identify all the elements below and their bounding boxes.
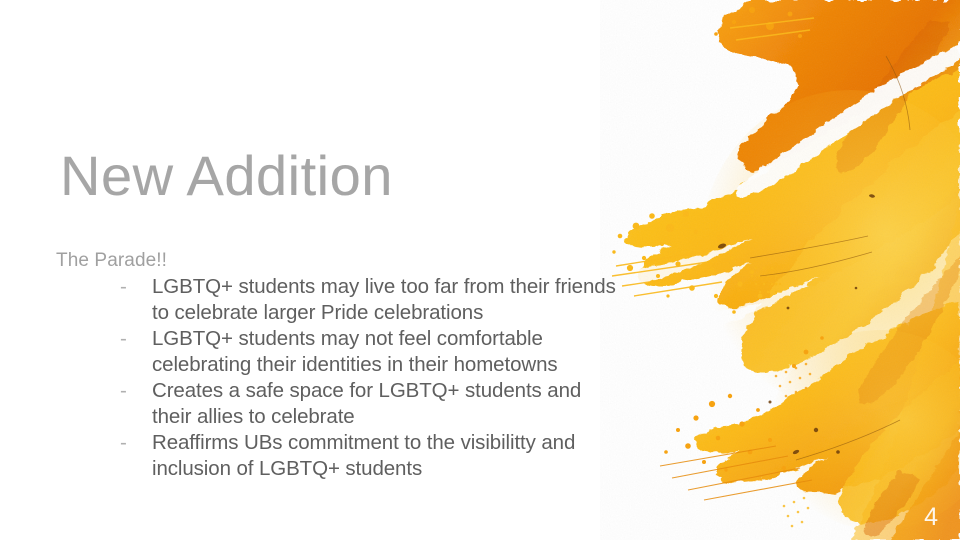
list-item: - LGBTQ+ students may live too far from … bbox=[118, 274, 618, 326]
list-item-text: LGBTQ+ students may live too far from th… bbox=[152, 275, 616, 324]
list-item: - LGBTQ+ students may not feel comfortab… bbox=[118, 326, 618, 378]
bullet-dash-icon: - bbox=[120, 430, 127, 456]
slide-number: 4 bbox=[924, 503, 938, 532]
page-title: New Addition bbox=[60, 146, 393, 205]
bullet-dash-icon: - bbox=[120, 378, 127, 404]
bullet-dash-icon: - bbox=[120, 326, 127, 352]
bullet-list: - LGBTQ+ students may live too far from … bbox=[118, 274, 618, 482]
bullet-dash-icon: - bbox=[120, 274, 127, 300]
list-item-text: LGBTQ+ students may not feel comfortable… bbox=[152, 327, 558, 376]
slide-subtitle: The Parade!! bbox=[56, 250, 167, 272]
list-item: - Creates a safe space for LGBTQ+ studen… bbox=[118, 378, 618, 430]
list-item-text: Reaffirms UBs commitment to the visibili… bbox=[152, 431, 575, 480]
presentation-slide: New Addition The Parade!! - LGBTQ+ stude… bbox=[0, 0, 960, 540]
list-item-text: Creates a safe space for LGBTQ+ students… bbox=[152, 379, 581, 428]
watercolor-splash-decoration bbox=[600, 0, 960, 540]
list-item: - Reaffirms UBs commitment to the visibi… bbox=[118, 430, 618, 482]
